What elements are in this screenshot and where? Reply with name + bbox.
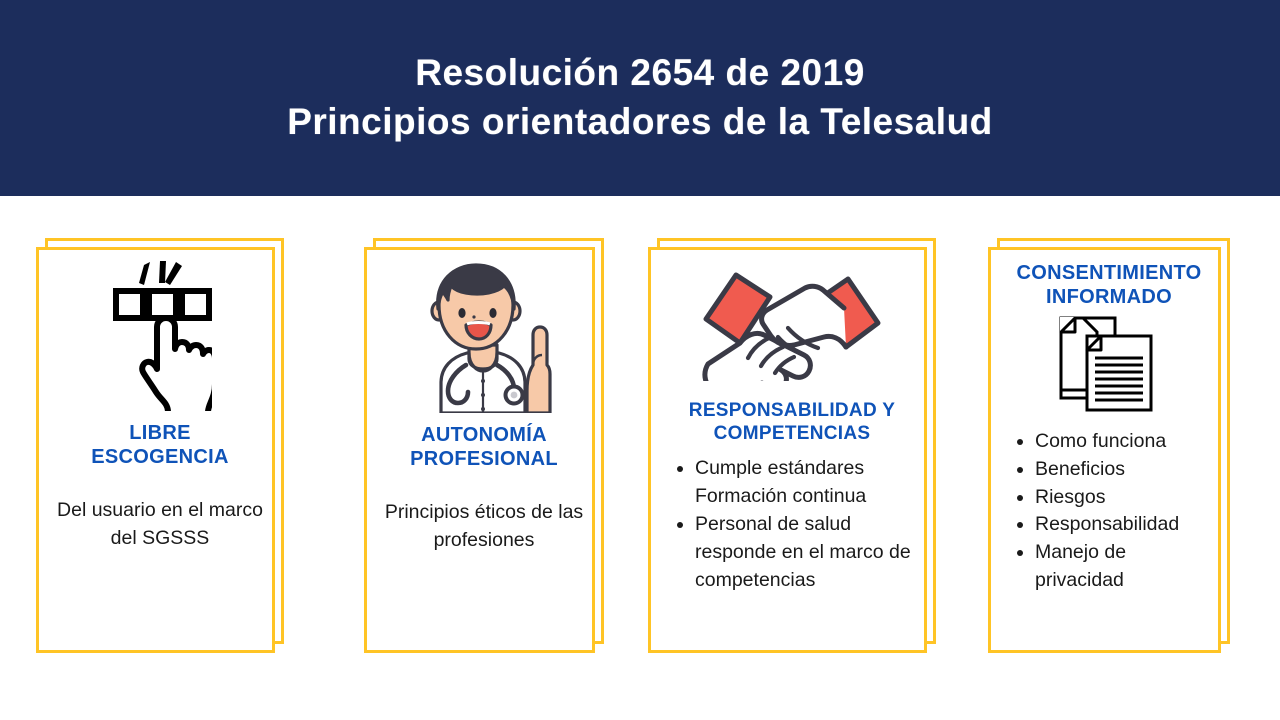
card-title: RESPONSABILIDAD Y COMPETENCIAS — [689, 399, 895, 445]
list-item: Como funciona — [1035, 428, 1213, 456]
card-content: RESPONSABILIDAD Y COMPETENCIAS Cumple es… — [657, 247, 927, 644]
card-title-line-2: ESCOGENCIA — [91, 445, 228, 469]
list-item: Riesgos — [1035, 484, 1213, 512]
documents-icon — [1053, 310, 1165, 418]
card-bullet-list: Cumple estándares Formación continua Per… — [665, 455, 919, 594]
card-title: LIBRE ESCOGENCIA — [91, 421, 228, 470]
header-banner: Resolución 2654 de 2019 Principios orien… — [0, 0, 1280, 196]
list-item: Beneficios — [1035, 456, 1213, 484]
card-consentimiento-informado[interactable]: CONSENTIMIENTO INFORMADO — [988, 238, 1230, 653]
card-bullet-list: Como funciona Beneficios Riesgos Respons… — [1005, 428, 1213, 595]
card-title-line-2: INFORMADO — [1017, 285, 1202, 309]
card-content: AUTONOMÍA PROFESIONAL Principios éticos … — [373, 247, 595, 644]
card-title-line-1: RESPONSABILIDAD Y — [689, 399, 895, 422]
list-item: Personal de salud responde en el marco d… — [695, 511, 919, 595]
card-title-line-2: COMPETENCIAS — [689, 422, 895, 445]
card-content: CONSENTIMIENTO INFORMADO — [997, 247, 1221, 644]
card-body-text: Del usuario en el marco del SGSSS — [53, 496, 267, 553]
list-item: Cumple estándares Formación continua — [695, 455, 919, 511]
card-title: CONSENTIMIENTO INFORMADO — [1017, 261, 1202, 310]
cards-row: LIBRE ESCOGENCIA Del usuario en el marco… — [0, 196, 1280, 720]
hand-pointing-select-icon — [108, 261, 212, 411]
card-responsabilidad-competencias[interactable]: RESPONSABILIDAD Y COMPETENCIAS Cumple es… — [648, 238, 936, 653]
card-title-line-1: CONSENTIMIENTO — [1017, 261, 1202, 285]
card-autonomia-profesional[interactable]: AUTONOMÍA PROFESIONAL Principios éticos … — [364, 238, 604, 653]
card-libre-escogencia[interactable]: LIBRE ESCOGENCIA Del usuario en el marco… — [36, 238, 284, 653]
card-title-line-1: LIBRE — [91, 421, 228, 445]
card-title-line-2: PROFESIONAL — [410, 447, 558, 471]
banner-title-line-2: Principios orientadores de la Telesalud — [287, 98, 993, 147]
list-item: Manejo de privacidad — [1035, 539, 1213, 595]
card-title-line-1: AUTONOMÍA — [410, 423, 558, 447]
handshake-icon — [696, 261, 888, 381]
card-body-text: Principios éticos de las profesiones — [381, 498, 587, 555]
card-title: AUTONOMÍA PROFESIONAL — [410, 423, 558, 472]
banner-title-line-1: Resolución 2654 de 2019 — [415, 49, 865, 98]
list-item: Responsabilidad — [1035, 511, 1213, 539]
card-content: LIBRE ESCOGENCIA Del usuario en el marco… — [45, 247, 275, 644]
doctor-pointing-up-icon — [409, 261, 559, 413]
